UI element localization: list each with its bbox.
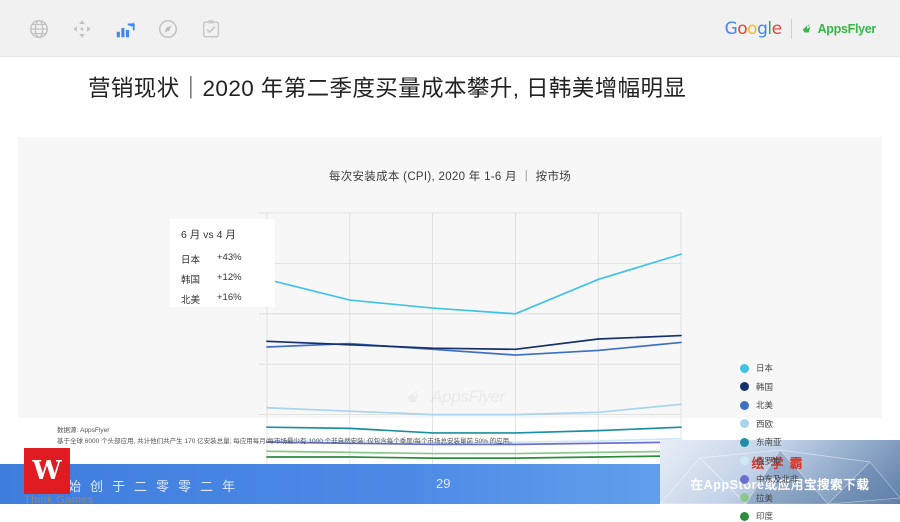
legend-label: 中东及北非 — [756, 473, 799, 485]
annotation-heading: 6 月 vs 4 月 — [181, 227, 275, 242]
compass-icon[interactable] — [157, 18, 179, 40]
legend-item[interactable]: 印度 — [740, 510, 799, 522]
legend-color-swatch — [740, 475, 749, 484]
chart-card: 每次安装成本 (CPI), 2020 年 1-6 月 ｜ 按市场 AppsFly… — [18, 137, 882, 418]
bottom-slogan: 始创于二零零二年 — [68, 476, 244, 495]
annotation-value: +43% — [217, 252, 242, 266]
legend-color-swatch — [740, 419, 749, 428]
legend-item[interactable]: 拉美 — [740, 492, 799, 504]
legend-label: 印度 — [756, 510, 773, 522]
chart-legend: 日本韩国北美西欧东南亚俄罗斯中东及北非拉美印度 — [740, 362, 799, 522]
legend-color-swatch — [740, 512, 749, 521]
google-letter-g2: g — [757, 19, 767, 39]
footnote-source: 数据源: AppsFlyer — [57, 424, 857, 434]
page-title: 营销现状｜2020 年第二季度买量成本攀升, 日韩美增幅明显 — [88, 71, 686, 103]
annotation-region: 日本 — [181, 252, 217, 266]
legend-label: 东南亚 — [756, 436, 782, 448]
page-number: 29 — [436, 476, 450, 491]
legend-item[interactable]: 中东及北非 — [740, 473, 799, 485]
series-line-韩国 — [267, 336, 681, 350]
legend-label: 拉美 — [756, 492, 773, 504]
legend-color-swatch — [740, 438, 749, 447]
google-letter-e: e — [772, 19, 782, 39]
appsflyer-wordmark: AppsFlyer — [818, 22, 876, 36]
annotation-row: 日本 +43% — [181, 252, 275, 266]
legend-label: 西欧 — [756, 418, 773, 430]
chart-svg: 2020-012020-022020-032020-042020-052020-… — [259, 205, 687, 505]
legend-item[interactable]: 北美 — [740, 399, 799, 411]
legend-color-swatch — [740, 382, 749, 391]
brand-lockup: Google AppsFlyer — [725, 19, 876, 39]
appsflyer-mark-icon — [801, 22, 815, 36]
legend-color-swatch — [740, 401, 749, 410]
series-line-西欧 — [267, 404, 681, 414]
legend-label: 俄罗斯 — [756, 455, 782, 467]
bar-chart-icon[interactable] — [114, 18, 136, 40]
annotation-value: +12% — [217, 272, 242, 286]
top-toolbar: Google AppsFlyer — [0, 0, 900, 57]
google-letter-o1: o — [737, 19, 747, 39]
annotation-box: 6 月 vs 4 月 日本 +43% 韩国 +12% 北美 +16% — [170, 219, 275, 307]
legend-label: 北美 — [756, 399, 773, 411]
chart-title: 每次安装成本 (CPI), 2020 年 1-6 月 ｜ 按市场 — [18, 168, 882, 184]
thinkgames-logo: W — [24, 448, 70, 494]
annotation-value: +16% — [217, 292, 242, 306]
move-arrows-icon[interactable] — [71, 18, 93, 40]
line-chart-plot: 2020-012020-022020-032020-042020-052020-… — [259, 205, 687, 505]
annotation-row: 北美 +16% — [181, 292, 275, 306]
thinkgames-mark-icon: W — [32, 458, 61, 484]
google-letter-g: G — [725, 19, 738, 39]
legend-color-swatch — [740, 456, 749, 465]
google-letter-o2: o — [747, 19, 757, 39]
legend-color-swatch — [740, 493, 749, 502]
checklist-icon[interactable] — [200, 18, 222, 40]
series-line-印度 — [267, 456, 681, 458]
thinkgames-wordmark: Think Games — [24, 494, 94, 506]
appsflyer-logo: AppsFlyer — [801, 22, 876, 36]
legend-color-swatch — [740, 364, 749, 373]
legend-label: 日本 — [756, 362, 773, 374]
annotation-row: 韩国 +12% — [181, 272, 275, 286]
legend-item[interactable]: 东南亚 — [740, 436, 799, 448]
globe-icon[interactable] — [28, 18, 50, 40]
annotation-region: 北美 — [181, 292, 217, 306]
legend-item[interactable]: 日本 — [740, 362, 799, 374]
series-line-拉美 — [267, 451, 681, 453]
legend-label: 韩国 — [756, 381, 773, 393]
legend-item[interactable]: 俄罗斯 — [740, 455, 799, 467]
annotation-region: 韩国 — [181, 272, 217, 286]
brand-divider — [791, 19, 792, 39]
legend-item[interactable]: 西欧 — [740, 418, 799, 430]
legend-item[interactable]: 韩国 — [740, 381, 799, 393]
toolbar-icon-group — [28, 18, 222, 40]
google-logo: Google — [725, 19, 782, 39]
